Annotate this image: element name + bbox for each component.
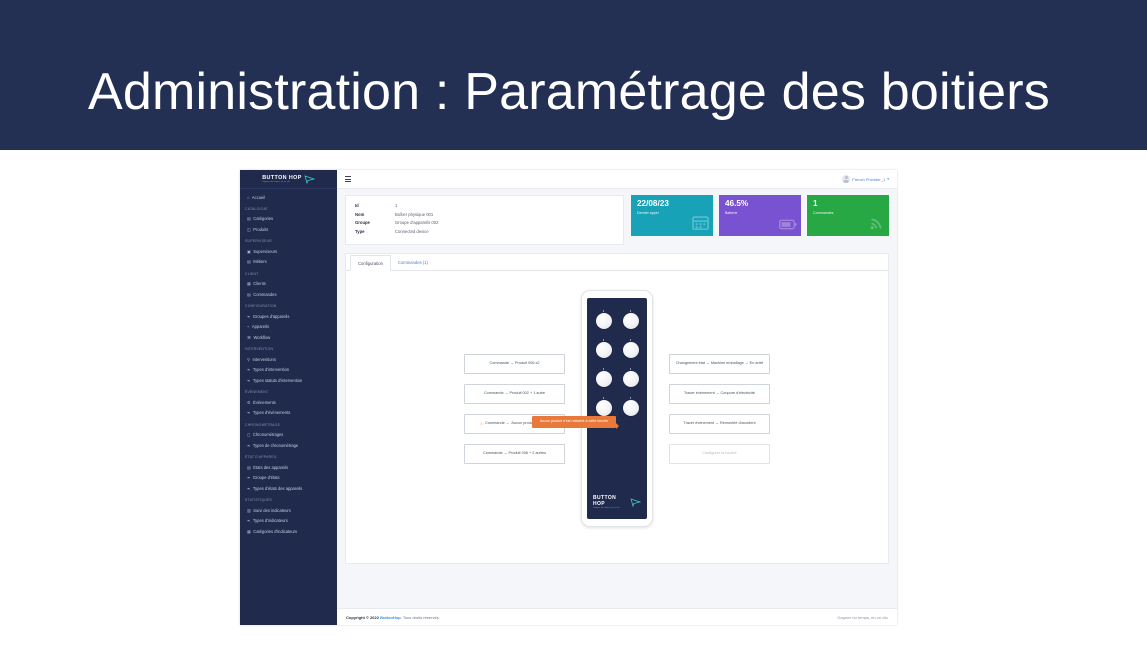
info-key: Groupe (355, 220, 395, 225)
tag-icon: ❧ (247, 486, 250, 491)
sidebar-item-groupe-d-tats[interactable]: ❧Groupe d'états (240, 473, 337, 484)
sidebar-section-heading: INTERVENTION (240, 343, 337, 354)
sidebar-section-heading: CONFIGURATION (240, 300, 337, 311)
buttonhop-logo-icon (630, 498, 641, 507)
key-circle[interactable] (623, 342, 639, 358)
sidebar-item-label: Groupes d'appareils (253, 314, 333, 320)
command-button[interactable]: Tracer évènement → Remontée d'accident (669, 414, 770, 434)
sidebar-item-label: Interventions (252, 357, 333, 363)
state-icon: ▤ (247, 465, 251, 470)
device-logo: BUTTON HOP Gagnez du temps, en un clic (593, 495, 641, 513)
sidebar-item-label: Catégories (253, 216, 333, 222)
keypad (596, 310, 639, 415)
sidebar-item-clients[interactable]: ▦Clients (240, 279, 337, 290)
key-led-icon (603, 397, 605, 399)
left-command-column: Commande → Produit 006 x2Commande → Prod… (464, 354, 565, 464)
topbar: French Provider_1 ▾ (337, 170, 897, 189)
device-icon: ⌁ (247, 324, 249, 329)
sidebar-item-chronom-trages[interactable]: ◻Chronométrages (240, 430, 337, 441)
info-key: Nom (355, 212, 395, 217)
tag-icon: ❧ (247, 410, 250, 415)
sidebar-item-label: Types statuts d'intervention (253, 378, 333, 384)
info-key: Id (355, 203, 395, 208)
key-led-icon (630, 339, 632, 341)
sidebar-item-suivi-des-indicateurs[interactable]: ▥Suivi des indicateurs (240, 505, 337, 516)
command-button-label: Commande → Produit 006 + 2 autres (483, 451, 546, 457)
sidebar-item-types-d-intervention[interactable]: ❧Types d'intervention (240, 365, 337, 376)
sidebar-item-appareils[interactable]: ⌁Appareils (240, 322, 337, 333)
sidebar-item-types-d-v-nements[interactable]: ❧Types d'évènements (240, 408, 337, 419)
sidebar-item-label: Commandes (253, 292, 333, 298)
sidebar-item-groupes-d-appareils[interactable]: ❧Groupes d'appareils (240, 311, 337, 322)
brand-name: BUTTON HOP Gagnez du temps, en un clic (262, 175, 302, 183)
sidebar-item-m-tiers[interactable]: ▤Métiers (240, 257, 337, 268)
keypad-key[interactable] (596, 339, 612, 357)
chevron-down-icon: ▾ (887, 177, 889, 181)
key-circle[interactable] (596, 400, 612, 416)
page-title: Administration : Paramétrage des boitier… (88, 62, 1050, 122)
keypad-key[interactable] (596, 368, 612, 386)
sidebar-item-label: Clients (253, 281, 333, 287)
chart-icon: ▥ (247, 508, 251, 513)
calendar-icon (692, 215, 709, 230)
sidebar-item-types-de-chronom-trage[interactable]: ❧Types de chronométrage (240, 440, 337, 451)
category-icon: ▤ (247, 216, 251, 221)
tab-configuration[interactable]: Configuration (350, 255, 391, 271)
sidebar-item-label: Métiers (253, 259, 333, 265)
sidebar-item-superviseurs[interactable]: ▣Superviseurs (240, 246, 337, 257)
command-button-label: Configurer la touche (702, 451, 736, 457)
user-menu[interactable]: French Provider_1 ▾ (842, 175, 889, 183)
sidebar-item-label: Types d'états des appareils (253, 486, 333, 492)
key-led-icon (603, 368, 605, 370)
tag-icon: ❧ (247, 518, 250, 523)
key-led-icon (630, 310, 632, 312)
sidebar-item-accueil[interactable]: ⌂Accueil (240, 192, 337, 203)
key-led-icon (603, 310, 605, 312)
stat-card: 1Commandes (807, 195, 889, 236)
copyright-prefix: Copyright © 2022 (346, 615, 380, 620)
info-value: Groupe d'appareils 002 (395, 220, 438, 225)
tag-icon: ❧ (247, 378, 250, 383)
tab-commandes-1[interactable]: Commandes (1) (391, 255, 435, 271)
battery-icon (779, 219, 797, 230)
key-circle[interactable] (623, 371, 639, 387)
sidebar-item-label: Types de chronométrage (253, 443, 333, 449)
info-row: Id1 (355, 203, 614, 208)
command-button[interactable]: Commande → Produit 002 + 1 autre (464, 384, 565, 404)
command-button[interactable]: Changement état → Machine emballage → En… (669, 354, 770, 374)
keypad-configurator: Commande → Produit 006 x2Commande → Prod… (346, 271, 888, 546)
sidebar-item-label: Types d'indicateurs (253, 518, 333, 524)
product-icon: ◫ (247, 227, 251, 232)
order-icon: ▤ (247, 292, 251, 297)
signal-icon (870, 215, 885, 230)
keypad-key[interactable] (596, 397, 612, 415)
warning-icon: ⚠ (480, 421, 484, 427)
command-button[interactable]: Tracer évènement → Coupure d'électricité (669, 384, 770, 404)
keypad-key[interactable] (596, 310, 612, 328)
sidebar-section-heading: SUPERVISEUR (240, 235, 337, 246)
buttonhop-logo-icon (304, 175, 315, 184)
info-key: Type (355, 229, 395, 234)
sidebar-item-produits[interactable]: ◫Produits (240, 224, 337, 235)
sidebar-section-heading: CATALOGUE (240, 203, 337, 214)
stat-card: 46.5%Batterie (719, 195, 801, 236)
device-face: BUTTON HOP Gagnez du temps, en un clic (587, 298, 647, 519)
sidebar-item-workflow[interactable]: ⌘Workflow (240, 332, 337, 343)
event-icon: ⚙ (247, 400, 251, 405)
sidebar-item-label: Superviseurs (253, 249, 333, 255)
app-screenshot: BUTTON HOP Gagnez du temps, en un clic ⌂… (240, 170, 897, 625)
key-circle[interactable] (623, 313, 639, 329)
client-icon: ▦ (247, 281, 251, 286)
stat-value: 1 (813, 200, 883, 208)
tab-bar: ConfigurationCommandes (1) (346, 254, 888, 271)
sidebar-item-label: Catégories d'indicateurs (253, 529, 333, 535)
footer: Copyright © 2022 ButtonHop. Tous droits … (337, 608, 897, 625)
info-row: NomBoîtier physique 001 (355, 212, 614, 217)
keypad-key[interactable] (623, 310, 639, 328)
key-circle[interactable] (623, 400, 639, 416)
grid-icon: ▦ (247, 529, 251, 534)
sidebar-item-types-d-indicateurs[interactable]: ❧Types d'indicateurs (240, 516, 337, 527)
right-command-column: Changement état → Machine emballage → En… (669, 354, 770, 464)
command-button-label: Changement état → Machine emballage → En… (676, 361, 763, 367)
sidebar-section-heading: STATISTIQUES (240, 494, 337, 505)
footer-tagline: Gagnez du temps, en un clic (837, 615, 888, 620)
stats-row: 22/08/23Dernier appel46.5%Batterie1Comma… (631, 195, 889, 245)
command-button[interactable]: Commande → Produit 006 x2 (464, 354, 565, 374)
supervisor-icon: ▣ (247, 249, 251, 254)
workflow-icon: ⌘ (247, 335, 251, 340)
key-led-icon (630, 397, 632, 399)
device-info-card: Id1NomBoîtier physique 001GroupeGroupe d… (345, 195, 624, 245)
user-name: French Provider_1 (852, 177, 885, 182)
info-value: Connected device (395, 229, 429, 234)
info-value: 1 (395, 203, 397, 208)
keypad-key[interactable] (623, 368, 639, 386)
stat-value: 22/08/23 (637, 200, 707, 208)
tag-icon: ❧ (247, 443, 250, 448)
sidebar-item-label: Workflow (254, 335, 334, 341)
job-icon: ▤ (247, 259, 251, 264)
copyright-suffix: . Tous droits réservés. (401, 615, 440, 620)
sidebar-item-tats-des-appareils[interactable]: ▤États des appareils (240, 462, 337, 473)
wrench-icon: ⚲ (247, 357, 250, 362)
sidebar-section-heading: CLIENT (240, 268, 337, 279)
key-led-icon (603, 339, 605, 341)
sidebar-item-label: États des appareils (253, 465, 333, 471)
device-mockup: BUTTON HOP Gagnez du temps, en un clic (581, 290, 653, 527)
configuration-panel: ConfigurationCommandes (1) Commande → Pr… (345, 253, 889, 564)
command-button-label: Commande → Produit 006 x2 (489, 361, 539, 367)
key-circle[interactable] (596, 342, 612, 358)
sidebar-item-cat-gories[interactable]: ▤Catégories (240, 214, 337, 225)
sidebar-item-label: Types d'évènements (253, 410, 333, 416)
info-row: GroupeGroupe d'appareils 002 (355, 220, 614, 225)
stat-card: 22/08/23Dernier appel (631, 195, 713, 236)
command-button-label: Tracer évènement → Coupure d'électricité (684, 391, 755, 397)
footer-copyright: Copyright © 2022 ButtonHop. Tous droits … (346, 615, 440, 620)
sidebar-brand: BUTTON HOP Gagnez du temps, en un clic (240, 170, 337, 189)
sidebar-item-cat-gories-d-indicateurs[interactable]: ▦Catégories d'indicateurs (240, 526, 337, 537)
keypad-key[interactable] (623, 339, 639, 357)
hamburger-icon[interactable] (345, 175, 351, 183)
sidebar-item-label: Suivi des indicateurs (253, 508, 333, 514)
timer-icon: ◻ (247, 432, 250, 437)
sidebar-item-types-d-tats-des-appareils[interactable]: ❧Types d'états des appareils (240, 483, 337, 494)
command-button[interactable]: Configurer la touche (669, 444, 770, 464)
keypad-key[interactable] (623, 397, 639, 415)
avatar (842, 175, 850, 183)
slide-title-banner: Administration : Paramétrage des boitier… (0, 0, 1147, 150)
tag-icon: ❧ (247, 367, 250, 372)
sidebar-section-heading: ÉVÈNEMENT (240, 386, 337, 397)
stat-label: Batterie (725, 211, 795, 215)
key-circle[interactable] (596, 371, 612, 387)
sidebar-item-v-nements[interactable]: ⚙Évènements (240, 397, 337, 408)
buttonhop-link[interactable]: ButtonHop (380, 615, 401, 620)
device-brand-name: BUTTON HOP (593, 495, 616, 507)
sidebar-item-commandes[interactable]: ▤Commandes (240, 289, 337, 300)
sidebar: BUTTON HOP Gagnez du temps, en un clic ⌂… (240, 170, 337, 625)
sidebar-item-interventions[interactable]: ⚲Interventions (240, 354, 337, 365)
sidebar-item-label: Évènements (253, 400, 333, 406)
warning-tooltip: Aucun produit n'est rattaché à cette tou… (532, 416, 616, 427)
sidebar-item-label: Accueil (252, 195, 333, 201)
home-icon: ⌂ (247, 195, 249, 200)
sidebar-item-types-statuts-d-intervention[interactable]: ❧Types statuts d'intervention (240, 375, 337, 386)
device-brand-tagline: Gagnez du temps, en un clic (593, 507, 629, 509)
command-button[interactable]: Commande → Produit 006 + 2 autres (464, 444, 565, 464)
sidebar-item-label: Appareils (252, 324, 333, 330)
key-circle[interactable] (596, 313, 612, 329)
sidebar-item-label: Groupe d'états (253, 475, 333, 481)
sidebar-section-heading: ÉTAT D'APPAREIL (240, 451, 337, 462)
command-button-label: Tracer évènement → Remontée d'accident (683, 421, 755, 427)
info-value: Boîtier physique 001 (395, 212, 433, 217)
sidebar-item-label: Chronométrages (253, 432, 333, 438)
tag-icon: ❧ (247, 475, 250, 480)
sidebar-item-label: Produits (253, 227, 333, 233)
sidebar-nav: ⌂AccueilCATALOGUE▤Catégories◫ProduitsSUP… (240, 189, 337, 537)
command-button-label: Commande → Produit 002 + 1 autre (484, 391, 545, 397)
stat-value: 46.5% (725, 200, 795, 208)
sidebar-item-label: Types d'intervention (253, 367, 333, 373)
info-row: TypeConnected device (355, 229, 614, 234)
key-led-icon (630, 368, 632, 370)
sidebar-section-heading: CHRONOMÉTRAGE (240, 419, 337, 430)
main-content: Id1NomBoîtier physique 001GroupeGroupe d… (337, 189, 897, 608)
tag-icon: ❧ (247, 314, 250, 319)
